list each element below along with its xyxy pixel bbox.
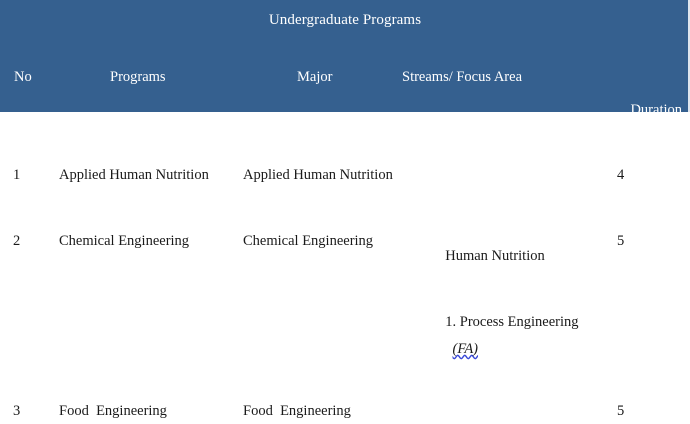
column-header-streams-focus-area: Streams/ Focus Area [402,66,522,88]
column-header-no: No [14,66,32,88]
stream-line: 1. Process Engineering (FA) [409,282,609,390]
cell-major: Applied Human Nutrition [243,162,393,189]
cell-duration: 5 [617,398,677,424]
cell-programs: Food Engineering [59,398,239,424]
undergraduate-programs-table: Undergraduate Programs No Programs Major… [0,0,690,424]
table-header-band: Undergraduate Programs No Programs Major… [0,0,690,112]
cell-no: 3 [13,398,53,424]
cell-no: 1 [13,162,53,189]
stream-text: 1. Process Engineering [445,314,578,330]
cell-programs: Applied Human Nutrition [59,162,239,189]
cell-no: 2 [13,228,53,255]
cell-streams: 1. Process Engineering (FA) 2. Environme… [409,228,609,424]
column-header-major: Major [297,66,332,88]
cell-major: Food Engineering [243,398,393,424]
table-title: Undergraduate Programs [0,10,690,30]
cell-major: Chemical Engineering [243,228,393,255]
cell-duration: 4 [617,162,677,189]
stream-tag: (FA) [453,341,479,357]
column-header-programs: Programs [110,66,166,88]
table-body: 1 Applied Human Nutrition Applied Human … [0,112,690,424]
cell-duration: 5 [617,228,677,255]
cell-programs: Chemical Engineering [59,228,239,255]
